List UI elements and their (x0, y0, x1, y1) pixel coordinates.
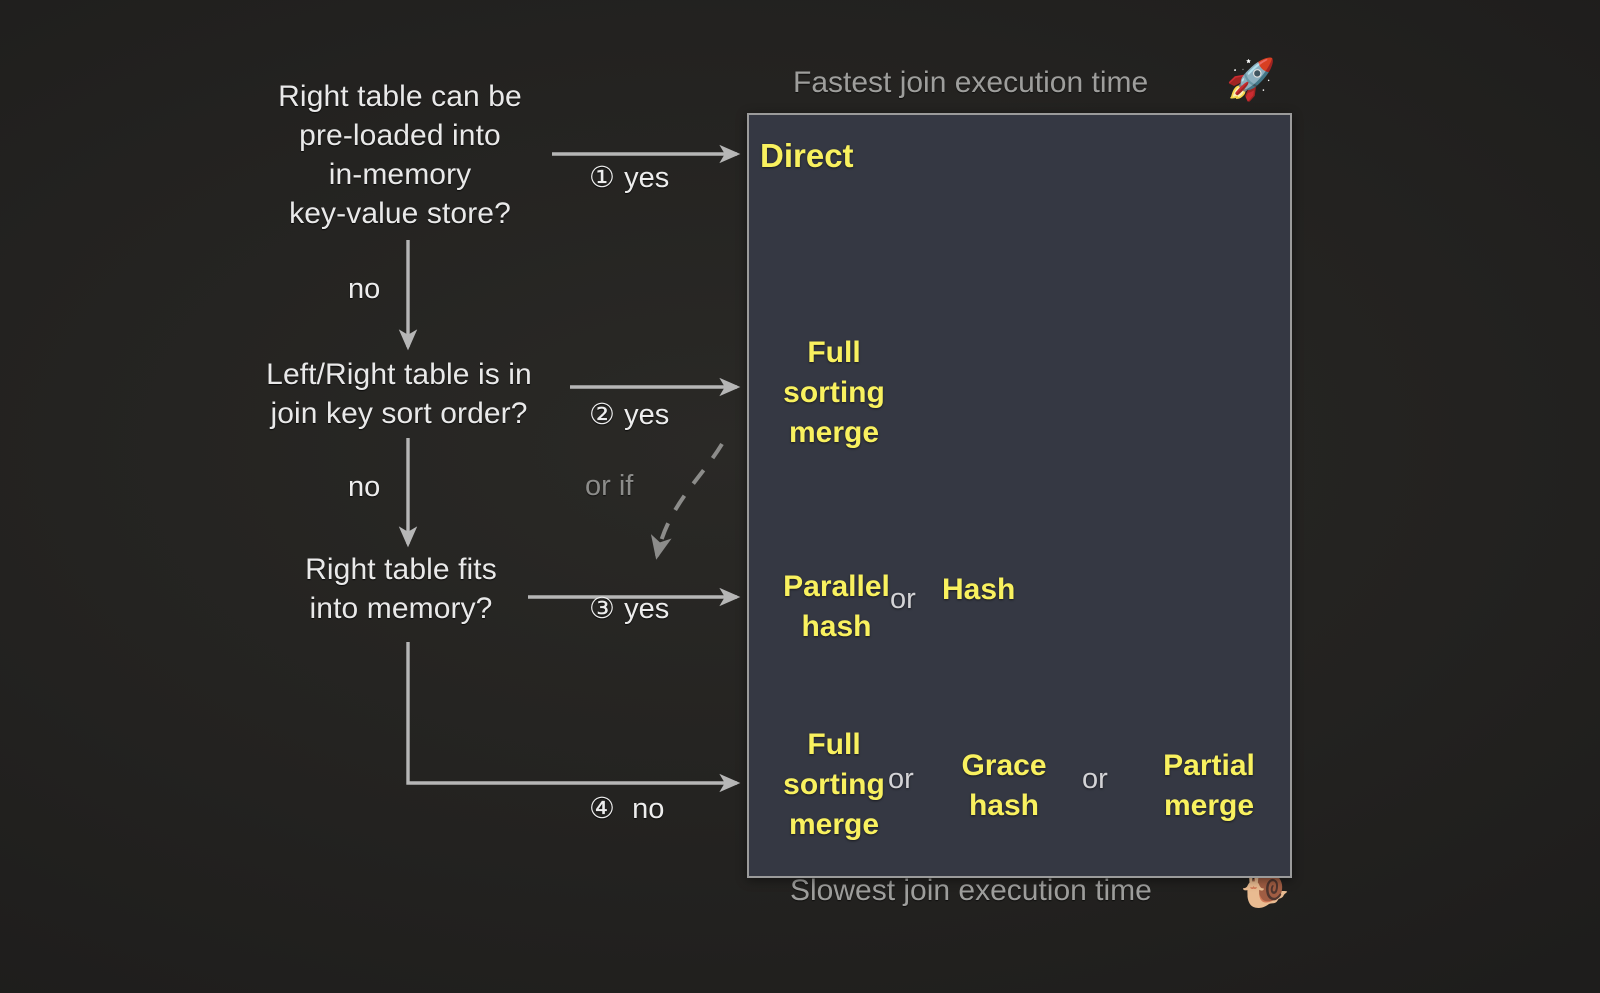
algorithm-hash: Hash (942, 570, 1062, 610)
marker-3: ③ (589, 593, 616, 625)
separator-or-row4-a: or (888, 763, 914, 796)
yes-text-3: yes (624, 593, 669, 625)
question-1-no-label: no (348, 273, 380, 306)
marker-2: ② (589, 399, 616, 431)
question-3-no-label: ④ no (589, 792, 664, 826)
or-if-label: or if (585, 470, 633, 503)
question-1-yes-label: ① yes (589, 161, 669, 195)
algorithm-full-sorting-merge-1: Full sorting merge (749, 333, 919, 453)
algorithm-grace-hash: Grace hash (934, 746, 1074, 826)
question-3-yes-label: ③ yes (589, 592, 669, 626)
caption-slowest: Slowest join execution time (790, 874, 1152, 908)
marker-1: ① (589, 162, 616, 194)
yes-text-1: yes (624, 162, 669, 194)
diagram-canvas: Fastest join execution time 🚀 Slowest jo… (0, 0, 1600, 993)
question-2: Left/Right table is in join key sort ord… (240, 355, 558, 433)
outcome-panel: Direct Full sorting merge Parallel hash … (747, 113, 1292, 878)
algorithm-partial-merge: Partial merge (1129, 746, 1289, 826)
caption-fastest: Fastest join execution time (793, 66, 1148, 100)
question-1: Right table can be pre-loaded into in-me… (250, 77, 550, 233)
separator-or-row3: or (890, 583, 916, 616)
question-2-no-label: no (348, 471, 380, 504)
question-3: Right table fits into memory? (282, 550, 520, 628)
marker-4: ④ (589, 793, 616, 825)
separator-or-row4-b: or (1082, 763, 1108, 796)
yes-text-2: yes (624, 399, 669, 431)
question-2-yes-label: ② yes (589, 398, 669, 432)
arrow-q3-no (408, 642, 737, 783)
arrow-or-if-dashed (657, 444, 722, 556)
algorithm-direct: Direct (760, 139, 920, 172)
rocket-icon: 🚀 (1226, 60, 1276, 100)
no-text-4: no (632, 793, 664, 825)
